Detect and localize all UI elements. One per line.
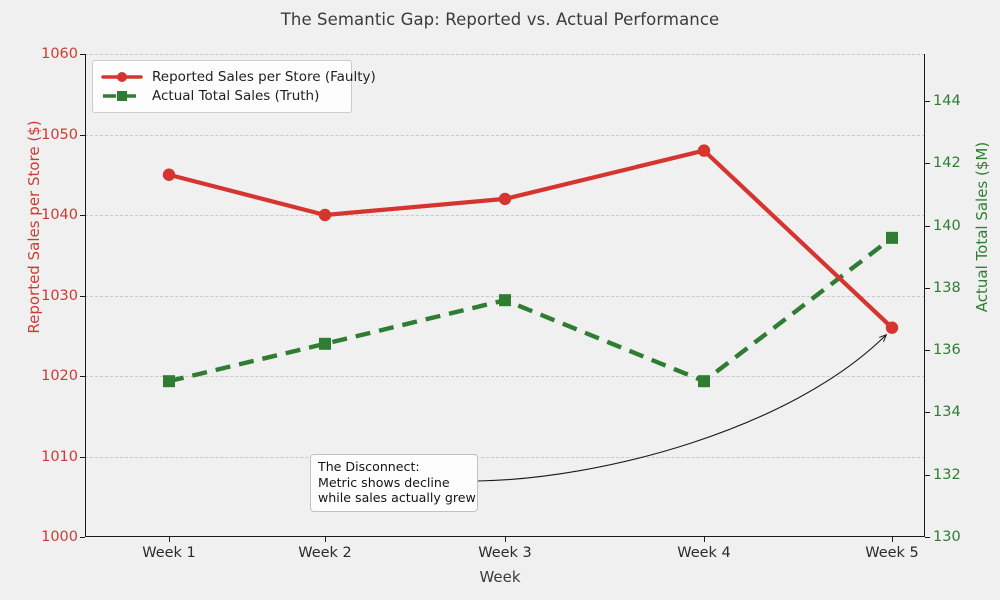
annotation-line-3: while sales actually grew — [318, 490, 470, 506]
tickmark-right-130 — [925, 537, 930, 538]
page-title: The Semantic Gap: Reported vs. Actual Pe… — [0, 10, 1000, 29]
left-tick-1000: 1000 — [41, 529, 78, 545]
legend-swatch-dashed-square-icon — [101, 88, 143, 104]
x-axis-label: Week — [0, 568, 1000, 586]
left-tick-1030: 1030 — [41, 288, 78, 304]
right-tick-132: 132 — [933, 467, 961, 483]
series-markers-reported-sales — [163, 144, 898, 334]
legend[interactable]: Reported Sales per Store (Faulty) Actual… — [92, 60, 352, 113]
left-tick-1010: 1010 — [41, 449, 78, 465]
tickmark-right-138 — [925, 288, 930, 289]
x-tick-week-1: Week 1 — [142, 545, 196, 561]
plot-area — [85, 54, 925, 537]
legend-swatch-line-circle-icon — [101, 69, 143, 85]
tickmark-left-1000 — [80, 537, 85, 538]
tickmark-x-week-1 — [169, 537, 170, 542]
data-point-actual-week-4 — [698, 375, 710, 387]
right-tick-134: 134 — [933, 404, 961, 420]
legend-label-actual-total-sales: Actual Total Sales (Truth) — [152, 88, 319, 104]
left-tick-1050: 1050 — [41, 127, 78, 143]
tickmark-right-132 — [925, 475, 930, 476]
annotation-line-1: The Disconnect: — [318, 459, 470, 475]
left-tick-1060: 1060 — [41, 46, 78, 62]
left-axis-label: Reported Sales per Store ($) — [25, 27, 43, 427]
tickmark-x-week-5 — [892, 537, 893, 542]
x-tick-week-5: Week 5 — [865, 545, 919, 561]
tickmark-x-week-2 — [325, 537, 326, 542]
right-tick-138: 138 — [933, 280, 961, 296]
legend-label-reported-sales: Reported Sales per Store (Faulty) — [152, 69, 376, 85]
data-point-reported-week-3 — [499, 193, 511, 205]
tickmark-right-140 — [925, 226, 930, 227]
x-tick-week-3: Week 3 — [478, 545, 532, 561]
right-tick-136: 136 — [933, 342, 961, 358]
tickmark-right-134 — [925, 412, 930, 413]
annotation-line-2: Metric shows decline — [318, 475, 470, 491]
data-point-actual-week-5 — [886, 232, 898, 244]
tickmark-right-144 — [925, 101, 930, 102]
x-tick-week-2: Week 2 — [298, 545, 352, 561]
legend-item-actual-total-sales[interactable]: Actual Total Sales (Truth) — [101, 86, 343, 105]
left-tick-1020: 1020 — [41, 368, 78, 384]
tickmark-right-136 — [925, 350, 930, 351]
x-tick-week-4: Week 4 — [677, 545, 731, 561]
data-point-actual-week-1 — [163, 375, 175, 387]
series-line-reported-sales — [169, 151, 892, 328]
data-point-actual-week-3 — [499, 294, 511, 306]
chart-figure: The Semantic Gap: Reported vs. Actual Pe… — [0, 0, 1000, 600]
tickmark-right-142 — [925, 163, 930, 164]
data-point-reported-week-4 — [698, 144, 710, 156]
data-point-reported-week-5 — [886, 322, 898, 334]
legend-item-reported-sales[interactable]: Reported Sales per Store (Faulty) — [101, 67, 343, 86]
right-tick-142: 142 — [933, 155, 961, 171]
right-tick-140: 140 — [933, 218, 961, 234]
tickmark-x-week-3 — [505, 537, 506, 542]
data-point-reported-week-1 — [163, 169, 175, 181]
tickmark-x-week-4 — [704, 537, 705, 542]
right-tick-144: 144 — [933, 93, 961, 109]
right-axis-label: Actual Total Sales ($M) — [973, 27, 991, 427]
data-point-reported-week-2 — [319, 209, 331, 221]
right-tick-130: 130 — [933, 529, 961, 545]
data-point-actual-week-2 — [319, 338, 331, 350]
annotation-textbox: The Disconnect: Metric shows decline whi… — [310, 454, 478, 512]
series-plot — [85, 54, 925, 537]
left-tick-1040: 1040 — [41, 207, 78, 223]
series-line-actual-total-sales — [169, 238, 892, 381]
